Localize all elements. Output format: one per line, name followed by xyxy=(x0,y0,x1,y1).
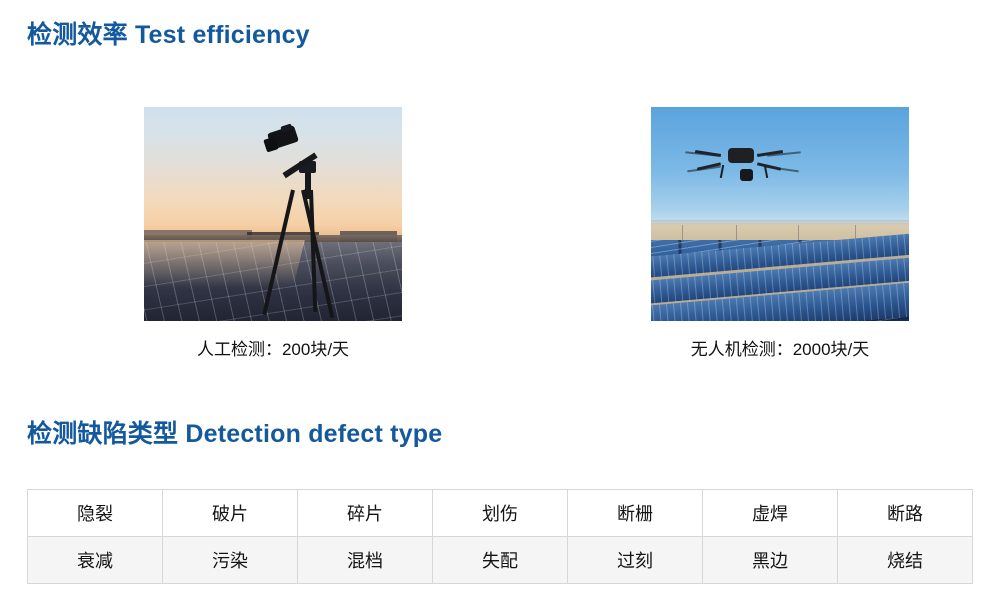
defect-cell: 隐裂 xyxy=(28,490,163,537)
manual-inspection-photo xyxy=(144,107,402,321)
defect-cell: 污染 xyxy=(163,537,298,584)
utility-pole xyxy=(798,225,799,240)
page-title-test-efficiency: 检测效率 Test efficiency xyxy=(27,15,310,51)
figure-manual-inspection: 人工检测：200块/天 xyxy=(144,107,402,360)
drone-inspection-photo xyxy=(651,107,909,321)
defect-cell: 黑边 xyxy=(703,537,838,584)
utility-pole xyxy=(736,225,737,240)
drone-inspection-caption: 无人机检测：2000块/天 xyxy=(651,335,909,360)
defect-cell: 衰减 xyxy=(28,537,163,584)
defect-cell: 虚焊 xyxy=(703,490,838,537)
utility-pole xyxy=(682,225,683,240)
manual-inspection-caption: 人工检测：200块/天 xyxy=(144,335,402,360)
defect-cell: 划伤 xyxy=(433,490,568,537)
drone-gimbal-camera xyxy=(740,169,753,181)
defect-cell: 混档 xyxy=(298,537,433,584)
drone-body xyxy=(728,148,754,163)
defect-type-table: 隐裂 破片 碎片 划伤 断栅 虚焊 断路 衰减 污染 混档 失配 过刻 黑边 烧… xyxy=(27,489,973,584)
defect-cell: 过刻 xyxy=(568,537,703,584)
table-row: 隐裂 破片 碎片 划伤 断栅 虚焊 断路 xyxy=(28,490,973,537)
figure-drone-inspection: 无人机检测：2000块/天 xyxy=(651,107,909,360)
defect-cell: 断路 xyxy=(838,490,973,537)
page-title-detection-defect-type: 检测缺陷类型 Detection defect type xyxy=(27,414,442,450)
horizon-haze xyxy=(651,220,909,225)
defect-cell: 破片 xyxy=(163,490,298,537)
table-row: 衰减 污染 混档 失配 过刻 黑边 烧结 xyxy=(28,537,973,584)
defect-cell: 烧结 xyxy=(838,537,973,584)
defect-cell: 断栅 xyxy=(568,490,703,537)
defect-cell: 碎片 xyxy=(298,490,433,537)
defect-cell: 失配 xyxy=(433,537,568,584)
